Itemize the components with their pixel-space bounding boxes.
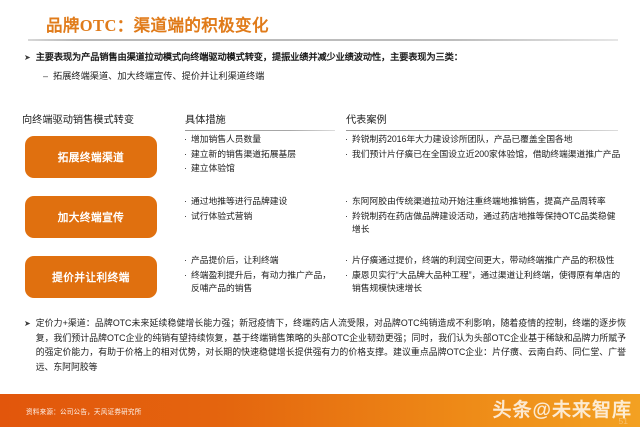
bullet-dot-icon: · — [345, 210, 348, 224]
cases-group-3: · 片仔癀通过提价，终端的利润空间更大，带动终端推广产品的积极性 · 康恩贝实行… — [345, 254, 623, 297]
list-item: · 我们预计片仔癀已在全国设立近200家体验馆，借助终端渠道推广产品 — [345, 148, 623, 162]
column-header-cases: 代表案例 — [346, 114, 387, 127]
list-item-label: 试行体验式营销 — [191, 210, 252, 224]
list-item-label: 羚锐制药2016年大力建设诊所团队，产品已覆盖全国各地 — [352, 133, 573, 147]
list-item-label: 建立体验馆 — [191, 162, 235, 176]
summary-paragraph: ➤ 定价力+渠道：品牌OTC未来延续稳健增长能力强；新冠疫情下，终端药店人流受限… — [24, 316, 626, 374]
bullet-dot-icon: · — [184, 210, 187, 224]
bullet-dot-icon: · — [345, 133, 348, 147]
slide-canvas: 品牌OTC：渠道端的积极变化 ➤ 主要表现为产品销售由渠道拉动模式向终端驱动模式… — [0, 0, 640, 427]
bullet-dot-icon: · — [184, 148, 187, 162]
bullet-dot-icon: · — [184, 269, 187, 283]
bullet-dot-icon: · — [345, 195, 348, 209]
three-column-table: 向终端驱动销售模式转变 具体措施 代表案例 拓展终端渠道 加大终端宣传 提价并让… — [0, 108, 640, 308]
list-item: · 羚锐制药2016年大力建设诊所团队，产品已覆盖全国各地 — [345, 133, 623, 147]
cases-group-2: · 东阿阿胶由传统渠道拉动开始注重终端地推销售，提高产品周转率 · 羚锐制药在药… — [345, 195, 623, 238]
list-item: · 建立体验馆 — [184, 162, 336, 176]
list-item-label: 羚锐制药在药店做品牌建设活动，通过药店地推等保持OTC品类稳健增长 — [352, 210, 623, 237]
column-header-measures: 具体措施 — [185, 114, 226, 127]
title-divider — [28, 39, 618, 41]
list-item-label: 东阿阿胶由传统渠道拉动开始注重终端地推销售，提高产品周转率 — [352, 195, 606, 209]
lead-main-text: 主要表现为产品销售由渠道拉动模式向终端驱动模式转变，提振业绩并减少业绩波动性，主… — [36, 50, 463, 64]
bullet-dot-icon: · — [184, 195, 187, 209]
list-item: · 终端盈利提升后，有动力推广产品，反哺产品的销售 — [184, 269, 336, 296]
page-title: 品牌OTC：渠道端的积极变化 — [46, 12, 269, 36]
list-item: · 产品提价后，让利终端 — [184, 254, 336, 268]
list-item: · 增加销售人员数量 — [184, 133, 336, 147]
lead-main-row: ➤ 主要表现为产品销售由渠道拉动模式向终端驱动模式转变，提振业绩并减少业绩波动性… — [24, 50, 624, 65]
measures-group-3: · 产品提价后，让利终端 · 终端盈利提升后，有动力推广产品，反哺产品的销售 — [184, 254, 336, 297]
cases-group-1: · 羚锐制药2016年大力建设诊所团队，产品已覆盖全国各地 · 我们预计片仔癀已… — [345, 133, 623, 162]
list-item: · 建立新的销售渠道拓展基层 — [184, 148, 336, 162]
bullet-dot-icon: · — [345, 254, 348, 268]
measures-group-2: · 通过地推等进行品牌建设 · 试行体验式营销 — [184, 195, 336, 224]
measures-group-1: · 增加销售人员数量 · 建立新的销售渠道拓展基层 · 建立体验馆 — [184, 133, 336, 177]
page-number: 51 — [619, 416, 628, 426]
lead-bullets: ➤ 主要表现为产品销售由渠道拉动模式向终端驱动模式转变，提振业绩并减少业绩波动性… — [24, 50, 624, 83]
list-item: · 康恩贝实行“大品牌大品种工程”，通过渠道让利终端，使得原有单店的销售规模快速… — [345, 269, 623, 296]
list-item-label: 片仔癀通过提价，终端的利润空间更大，带动终端推广产品的积极性 — [352, 254, 614, 268]
bullet-dot-icon: · — [345, 148, 348, 162]
list-item-label: 建立新的销售渠道拓展基层 — [191, 148, 296, 162]
summary-text: 定价力+渠道：品牌OTC未来延续稳健增长能力强；新冠疫情下，终端药店人流受限，对… — [36, 316, 626, 374]
arrow-bullet-icon: ➤ — [24, 316, 31, 331]
dash-bullet-icon: – — [43, 69, 48, 83]
bullet-dot-icon: · — [184, 162, 187, 176]
arrow-bullet-icon: ➤ — [24, 50, 31, 65]
slide-footer: 资料来源：公司公告，天风证券研究所 头条@未来智库 51 — [0, 394, 640, 427]
bullet-dot-icon: · — [345, 269, 348, 283]
list-item-label: 增加销售人员数量 — [191, 133, 261, 147]
column-divider-measures — [185, 130, 335, 131]
list-item-label: 产品提价后，让利终端 — [191, 254, 278, 268]
list-item-label: 终端盈利提升后，有动力推广产品，反哺产品的销售 — [191, 269, 336, 296]
list-item: · 试行体验式营销 — [184, 210, 336, 224]
list-item: · 羚锐制药在药店做品牌建设活动，通过药店地推等保持OTC品类稳健增长 — [345, 210, 623, 237]
source-note: 资料来源：公司公告，天风证券研究所 — [26, 406, 142, 416]
bullet-dot-icon: · — [184, 133, 187, 147]
pill-expand-terminal-channels[interactable]: 拓展终端渠道 — [25, 136, 157, 178]
list-item-label: 康恩贝实行“大品牌大品种工程”，通过渠道让利终端，使得原有单店的销售规模快速增长 — [352, 269, 623, 296]
list-item-label: 我们预计片仔癀已在全国设立近200家体验馆，借助终端渠道推广产品 — [352, 148, 620, 162]
bullet-dot-icon: · — [184, 254, 187, 268]
column-header-transition: 向终端驱动销售模式转变 — [22, 114, 134, 127]
column-divider-cases — [346, 130, 618, 131]
list-item-label: 通过地推等进行品牌建设 — [191, 195, 287, 209]
lead-sub-text: 拓展终端渠道、加大终端宣传、提价并让利渠道终端 — [53, 69, 264, 83]
list-item: · 通过地推等进行品牌建设 — [184, 195, 336, 209]
lead-sub-row: – 拓展终端渠道、加大终端宣传、提价并让利渠道终端 — [24, 69, 624, 83]
list-item: · 片仔癀通过提价，终端的利润空间更大，带动终端推广产品的积极性 — [345, 254, 623, 268]
list-item: · 东阿阿胶由传统渠道拉动开始注重终端地推销售，提高产品周转率 — [345, 195, 623, 209]
pill-increase-terminal-promotion[interactable]: 加大终端宣传 — [25, 196, 157, 238]
pill-raise-price-share-profit[interactable]: 提价并让利终端 — [25, 256, 157, 298]
watermark-label: 头条@未来智库 — [492, 395, 632, 422]
slide-header: 品牌OTC：渠道端的积极变化 — [0, 0, 640, 44]
